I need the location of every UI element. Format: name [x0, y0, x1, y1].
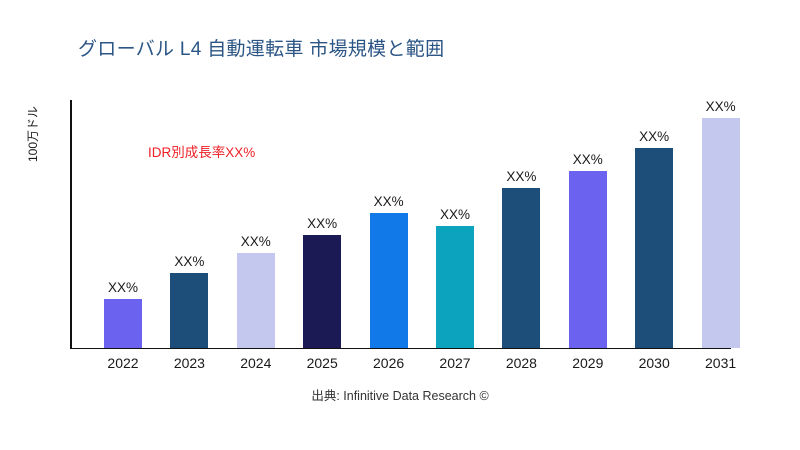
bar-2022[interactable]	[104, 299, 142, 348]
bar-group: XX%2027	[425, 226, 485, 348]
bar-2025[interactable]	[303, 235, 341, 348]
bar-value-label: XX%	[624, 129, 684, 144]
chart-container: グローバル L4 自動運転車 市場規模と範囲 100万ドル XX%2022XX%…	[0, 0, 800, 450]
x-tick-label-2029: 2029	[558, 348, 618, 371]
x-tick-label-2022: 2022	[93, 348, 153, 371]
bar-group: XX%2029	[558, 171, 618, 348]
bar-value-label: XX%	[491, 169, 551, 184]
plot-area: XX%2022XX%2023XX%2024XX%2025XX%2026XX%20…	[0, 0, 800, 450]
bar-2029[interactable]	[569, 171, 607, 348]
bar-2028[interactable]	[502, 188, 540, 348]
bar-value-label: XX%	[359, 194, 419, 209]
x-tick-label-2031: 2031	[691, 348, 751, 371]
x-tick-label-2024: 2024	[226, 348, 286, 371]
source-note: 出典: Infinitive Data Research ©	[0, 385, 800, 404]
bar-value-label: XX%	[159, 254, 219, 269]
bar-group: XX%2022	[93, 299, 153, 348]
bar-value-label: XX%	[93, 280, 153, 295]
bar-2030[interactable]	[635, 148, 673, 348]
bar-group: XX%2030	[624, 148, 684, 348]
x-tick-label-2028: 2028	[491, 348, 551, 371]
bar-value-label: XX%	[691, 99, 751, 114]
bar-2031[interactable]	[702, 118, 740, 348]
bar-value-label: XX%	[292, 216, 352, 231]
bar-2024[interactable]	[237, 253, 275, 348]
bar-group: XX%2024	[226, 253, 286, 348]
bar-group: XX%2023	[159, 273, 219, 348]
x-tick-label-2026: 2026	[359, 348, 419, 371]
bar-value-label: XX%	[425, 207, 485, 222]
bar-2026[interactable]	[370, 213, 408, 348]
bar-2023[interactable]	[170, 273, 208, 348]
bar-group: XX%2025	[292, 235, 352, 348]
bar-group: XX%2028	[491, 188, 551, 348]
x-tick-label-2027: 2027	[425, 348, 485, 371]
bar-value-label: XX%	[558, 152, 618, 167]
cagr-annotation: IDR別成長率XX%	[148, 141, 255, 161]
bar-2027[interactable]	[436, 226, 474, 348]
bar-group: XX%2031	[691, 118, 751, 348]
x-tick-label-2025: 2025	[292, 348, 352, 371]
bar-group: XX%2026	[359, 213, 419, 348]
x-tick-label-2030: 2030	[624, 348, 684, 371]
bar-value-label: XX%	[226, 234, 286, 249]
x-tick-label-2023: 2023	[159, 348, 219, 371]
